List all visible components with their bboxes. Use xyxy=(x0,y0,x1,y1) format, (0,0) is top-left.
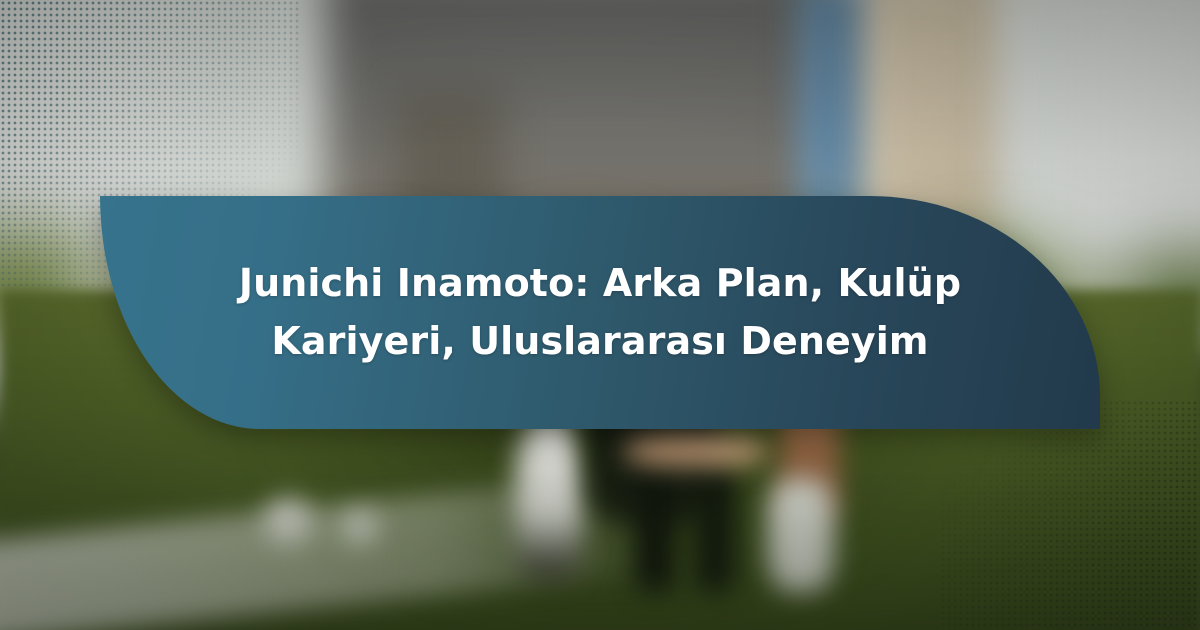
title-banner: Junichi Inamoto: Arka Plan, Kulüp Kariye… xyxy=(100,196,1100,429)
share-card-canvas: Junichi Inamoto: Arka Plan, Kulüp Kariye… xyxy=(0,0,1200,630)
page-title: Junichi Inamoto: Arka Plan, Kulüp Kariye… xyxy=(124,255,1076,371)
